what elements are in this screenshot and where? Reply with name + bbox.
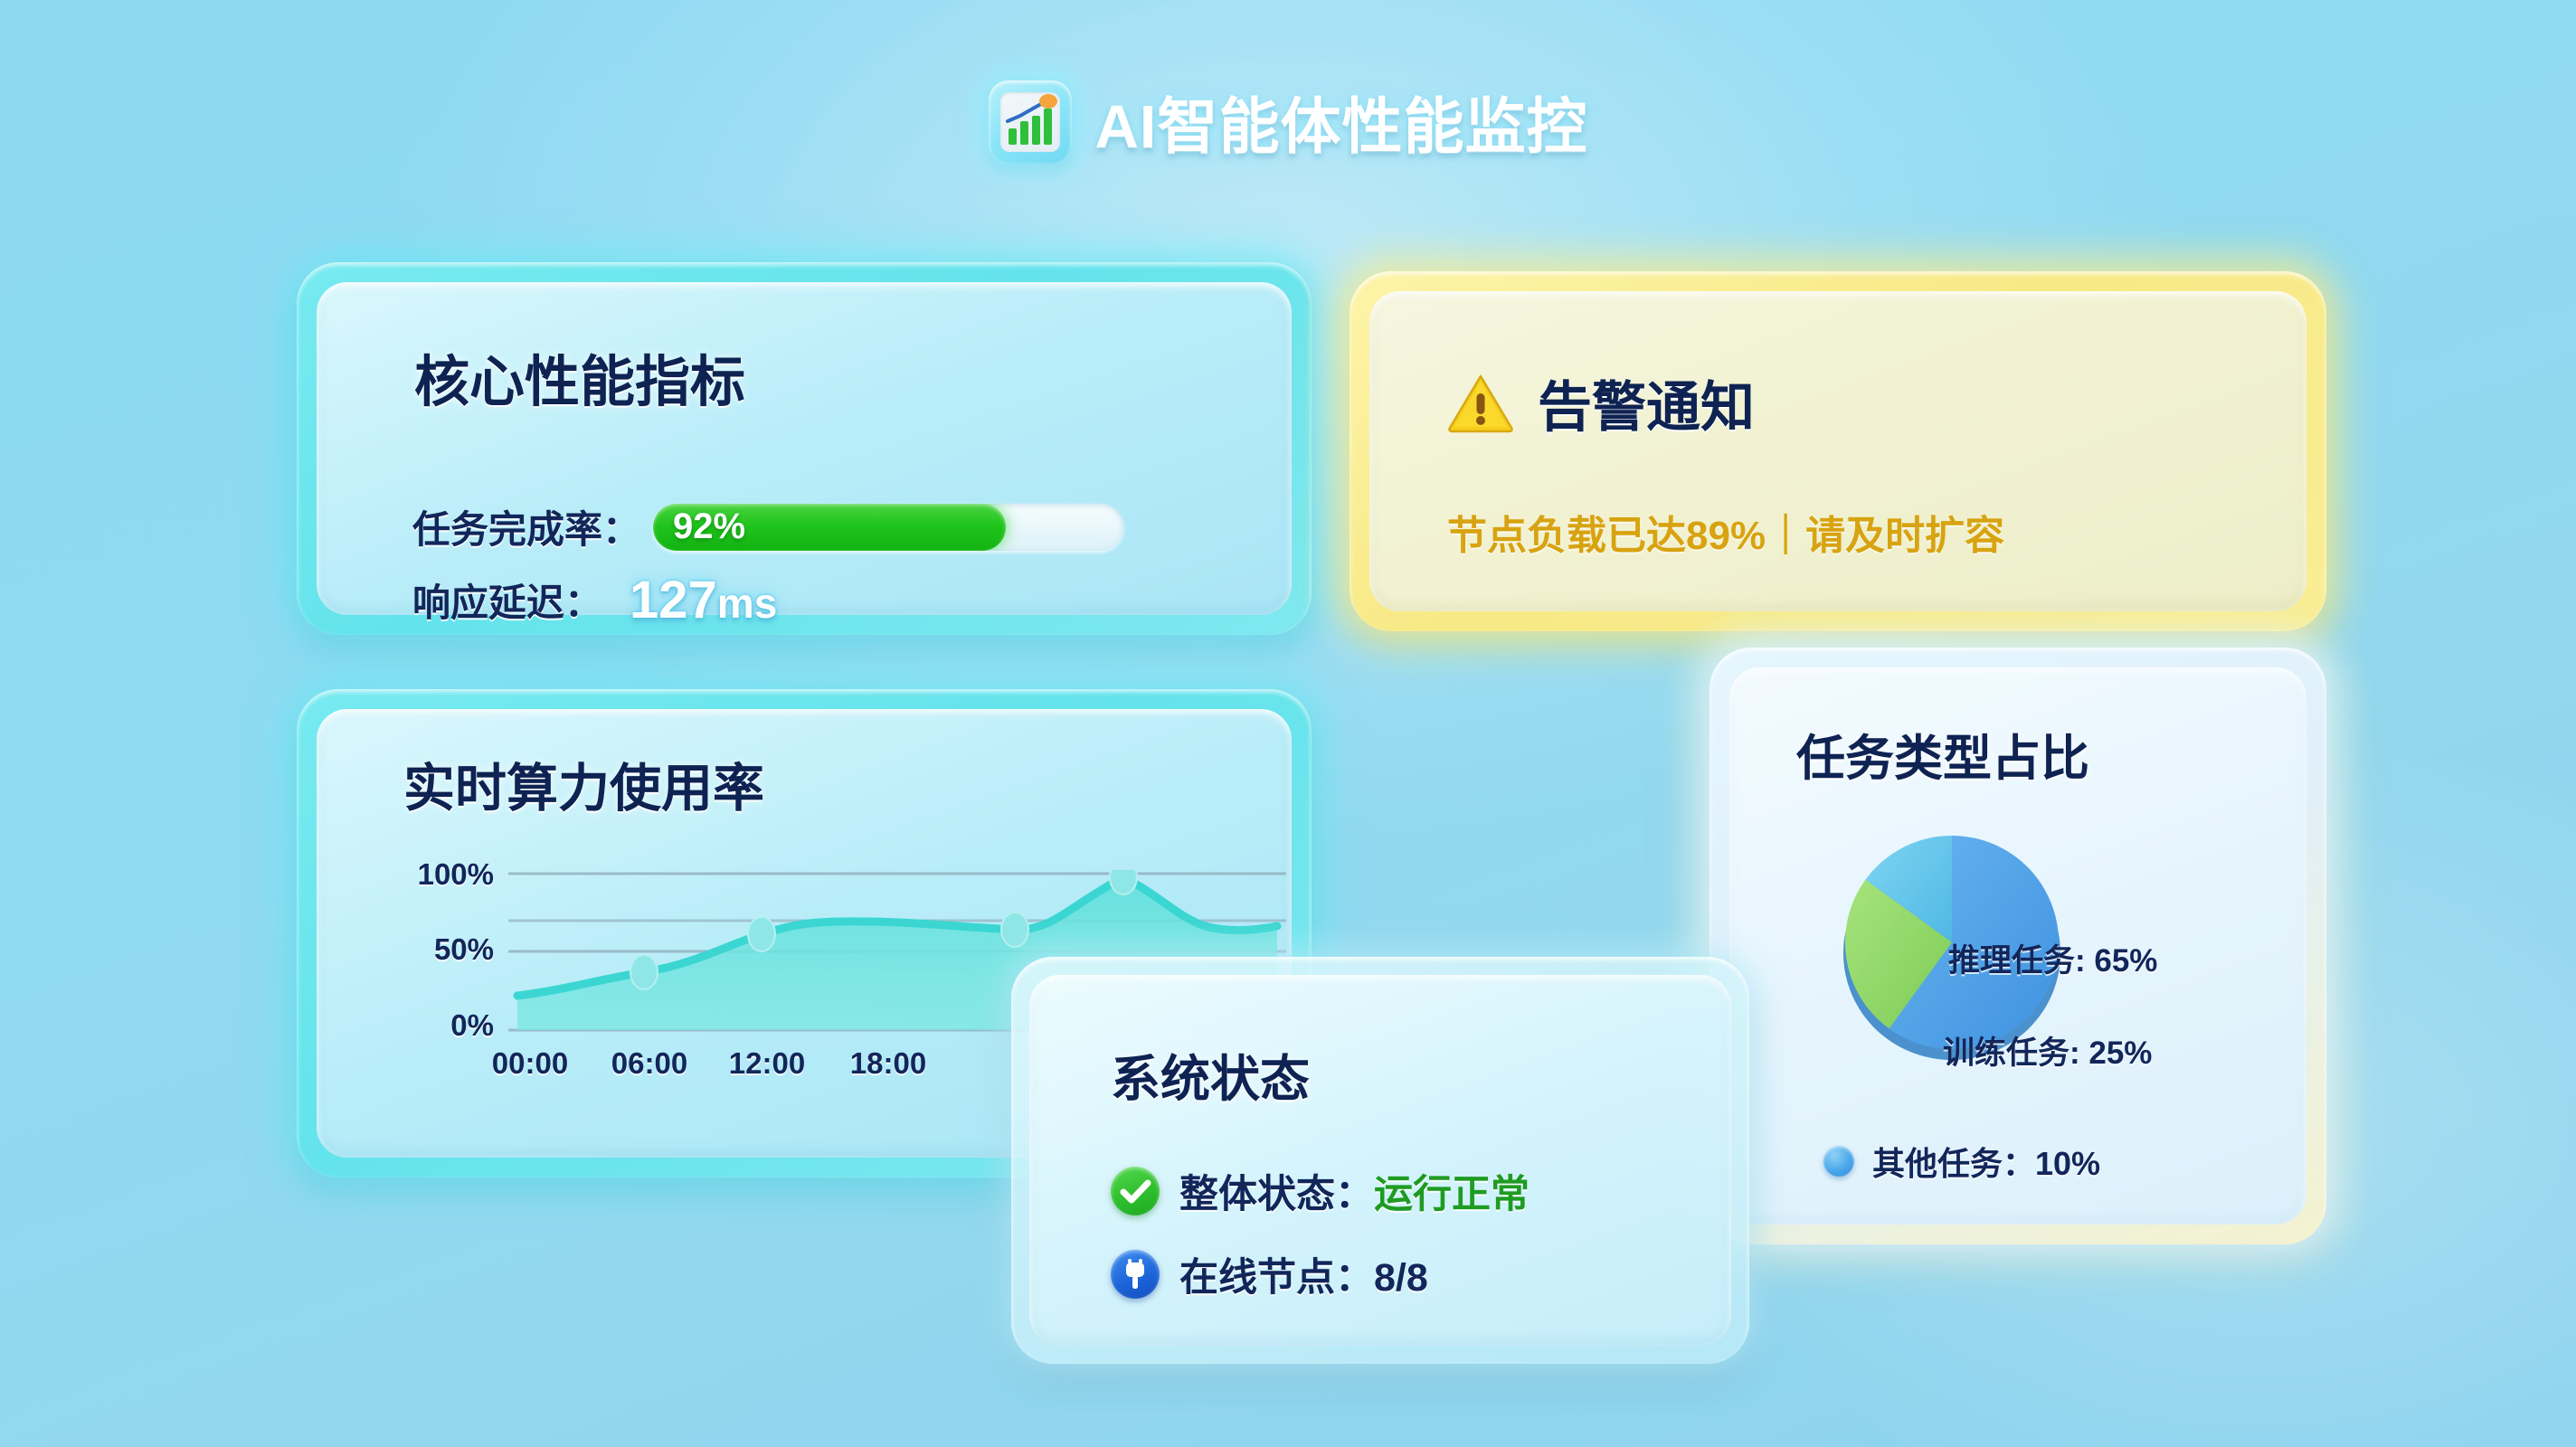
warning-triangle-icon bbox=[1447, 374, 1514, 433]
page-header: AI智能体性能监控 bbox=[0, 78, 2576, 166]
task-completion-row: 任务完成率： 92% bbox=[412, 499, 1123, 554]
system-status-title: 系统状态 bbox=[1111, 1038, 1310, 1111]
ytick-100: 100% bbox=[376, 857, 494, 892]
latency-value: 127ms bbox=[630, 570, 777, 630]
bar-chart-trend-icon bbox=[989, 80, 1072, 164]
task-completion-label: 任务完成率： bbox=[412, 499, 640, 554]
blue-dot-icon bbox=[1823, 1146, 1854, 1177]
alert-notification-card: 告警通知 节点负载已达89%｜请及时扩容 bbox=[1350, 271, 2326, 631]
task-completion-value: 92% bbox=[673, 506, 745, 547]
card-panel bbox=[317, 282, 1292, 615]
server-node-icon bbox=[1111, 1250, 1160, 1299]
alert-card-panel bbox=[1369, 291, 2306, 611]
alert-message: 节点负载已达89%｜请及时扩容 bbox=[1447, 503, 2004, 561]
pie-chart-title: 任务类型占比 bbox=[1796, 718, 2089, 790]
page-title: AI智能体性能监控 bbox=[1095, 78, 1588, 166]
pie-legend-label: 其他任务：10% bbox=[1872, 1138, 2100, 1185]
alert-title: 告警通知 bbox=[1538, 364, 1755, 442]
system-status-card: 系统状态 整体状态：运行正常 在线节点：8/8 bbox=[1011, 957, 1749, 1364]
pie-label-inference: 推理任务: 65% bbox=[1948, 935, 2157, 981]
online-nodes-label: 在线节点： bbox=[1179, 1256, 1374, 1300]
ytick-0: 0% bbox=[376, 1008, 494, 1043]
latency-row: 响应延迟： 127ms bbox=[412, 570, 777, 630]
pie-legend-other: 其他任务：10% bbox=[1823, 1138, 2100, 1185]
online-nodes-value: 8/8 bbox=[1374, 1256, 1428, 1300]
online-nodes-row: 在线节点：8/8 bbox=[1111, 1246, 1428, 1302]
ytick-50: 50% bbox=[376, 932, 494, 967]
online-nodes-text: 在线节点：8/8 bbox=[1179, 1246, 1428, 1302]
check-circle-icon bbox=[1111, 1167, 1160, 1215]
overall-status-label: 整体状态： bbox=[1179, 1173, 1374, 1216]
core-metrics-title: 核心性能指标 bbox=[414, 336, 745, 417]
xtick-1800: 18:00 bbox=[816, 1046, 961, 1081]
latency-unit: ms bbox=[717, 580, 777, 627]
overall-status-value: 运行正常 bbox=[1374, 1173, 1529, 1216]
latency-number: 127 bbox=[630, 571, 717, 629]
task-type-card: 任务类型占比 推理任务: 65% 训练任务: 25% 其他任务：10% bbox=[1709, 648, 2326, 1244]
task-completion-progress: 92% bbox=[653, 504, 1123, 551]
core-metrics-card: 核心性能指标 任务完成率： 92% 响应延迟： 127ms bbox=[297, 262, 1312, 635]
progress-fill: 92% bbox=[653, 504, 1006, 551]
overall-status-text: 整体状态：运行正常 bbox=[1179, 1163, 1529, 1219]
latency-label: 响应延迟： bbox=[412, 572, 602, 628]
overall-status-row: 整体状态：运行正常 bbox=[1111, 1163, 1529, 1219]
alert-header: 告警通知 bbox=[1447, 364, 1755, 442]
usage-chart-title: 实时算力使用率 bbox=[403, 747, 764, 821]
pie-label-training: 训练任务: 25% bbox=[1943, 1027, 2152, 1073]
